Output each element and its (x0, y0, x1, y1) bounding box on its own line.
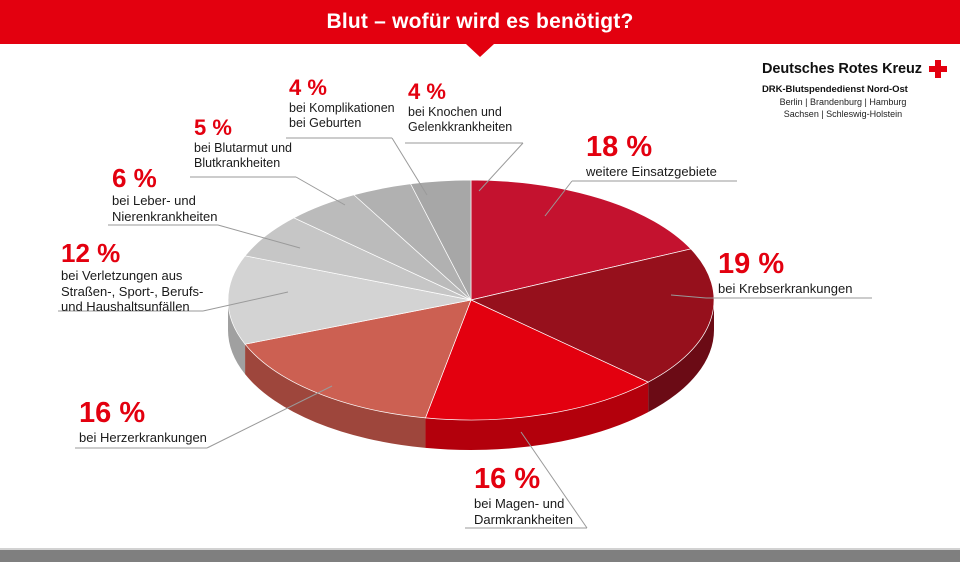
callout-4-knochen: 4 % bei Knochen und Gelenkkrankheiten (408, 80, 512, 135)
callout-5: 5 % bei Blutarmut und Blutkrankheiten (194, 116, 292, 171)
callout-18: 18 % weitere Einsatzgebiete (586, 133, 717, 180)
callout-16-herz-pct: 16 % (79, 399, 207, 428)
footer-bar (0, 550, 960, 562)
pie-top-faces (228, 180, 714, 420)
callout-16-magen-pct: 16 % (474, 465, 573, 494)
callout-18-pct: 18 % (586, 133, 717, 162)
callout-4-knochen-desc: bei Knochen und Gelenkkrankheiten (408, 105, 512, 135)
callout-4-geburten-pct: 4 % (289, 76, 395, 99)
callout-19: 19 % bei Krebserkrankungen (718, 250, 852, 297)
callout-6-desc: bei Leber- und Nierenkrankheiten (112, 193, 218, 224)
callout-19-pct: 19 % (718, 250, 852, 279)
callout-12-desc: bei Verletzungen aus Straßen-, Sport-, B… (61, 268, 203, 315)
callout-19-desc: bei Krebserkrankungen (718, 281, 852, 297)
callout-18-desc: weitere Einsatzgebiete (586, 164, 717, 180)
callout-12-pct: 12 % (61, 240, 203, 266)
callout-16-herz-desc: bei Herzerkrankungen (79, 430, 207, 446)
callout-6: 6 % bei Leber- und Nierenkrankheiten (112, 165, 218, 224)
callout-16-magen-desc: bei Magen- und Darmkrankheiten (474, 496, 573, 527)
infographic-canvas: Blut – wofür wird es benötigt? Deutsches… (0, 0, 960, 562)
callout-5-desc: bei Blutarmut und Blutkrankheiten (194, 141, 292, 171)
callout-16-magen: 16 % bei Magen- und Darmkrankheiten (474, 465, 573, 527)
callout-5-pct: 5 % (194, 116, 292, 139)
callout-4-knochen-pct: 4 % (408, 80, 512, 103)
callout-4-geburten: 4 % bei Komplikationen bei Geburten (289, 76, 395, 131)
callout-12: 12 % bei Verletzungen aus Straßen-, Spor… (61, 240, 203, 315)
callout-4-geburten-desc: bei Komplikationen bei Geburten (289, 101, 395, 131)
callout-16-herz: 16 % bei Herzerkrankungen (79, 399, 207, 446)
